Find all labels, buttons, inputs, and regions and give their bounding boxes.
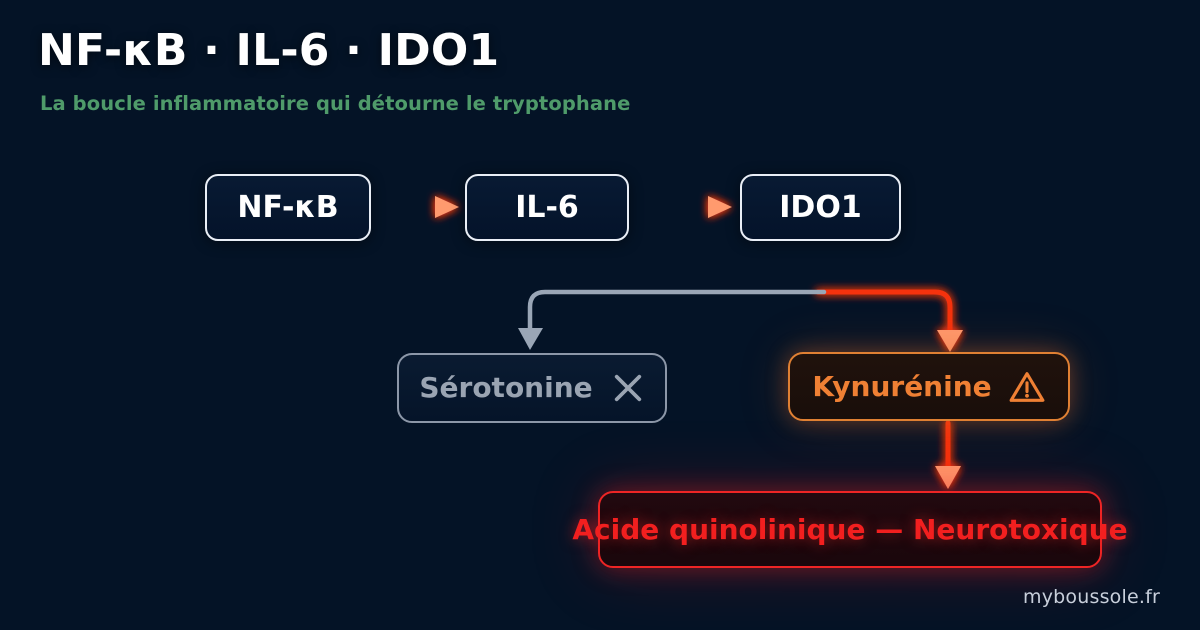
node-acide-quinolinique-label: Acide quinolinique — Neurotoxique [572,516,1127,544]
footer-site: myboussole.fr [1023,586,1160,608]
node-il6[interactable]: IL-6 [465,174,629,241]
edge-nfkb-to-il6 [383,196,459,218]
edge-ido1-to-serotonine [518,292,824,350]
page-subtitle: La boucle inflammatoire qui détourne le … [40,92,630,115]
node-serotonine[interactable]: Sérotonine [397,353,667,423]
diagram-canvas: NF-κB · IL-6 · IDO1 La boucle inflammato… [0,0,1200,630]
page-title: NF-κB · IL-6 · IDO1 [38,25,499,76]
node-il6-label: IL-6 [515,193,579,223]
node-nfkb-label: NF-κB [237,193,338,223]
close-x-icon [611,371,645,405]
node-acide-quinolinique[interactable]: Acide quinolinique — Neurotoxique [598,491,1102,568]
edge-il6-to-ido1 [641,196,732,218]
node-kynurenine[interactable]: Kynurénine [788,352,1070,421]
node-serotonine-label: Sérotonine [419,374,592,402]
node-ido1[interactable]: IDO1 [740,174,901,241]
edge-kynurenine-to-quinolinic [935,423,961,489]
node-kynurenine-label: Kynurénine [812,373,991,401]
node-nfkb[interactable]: NF-κB [205,174,371,241]
node-ido1-label: IDO1 [779,193,861,223]
edge-ido1-to-kynurenine [818,292,963,352]
warning-triangle-icon [1008,370,1046,404]
